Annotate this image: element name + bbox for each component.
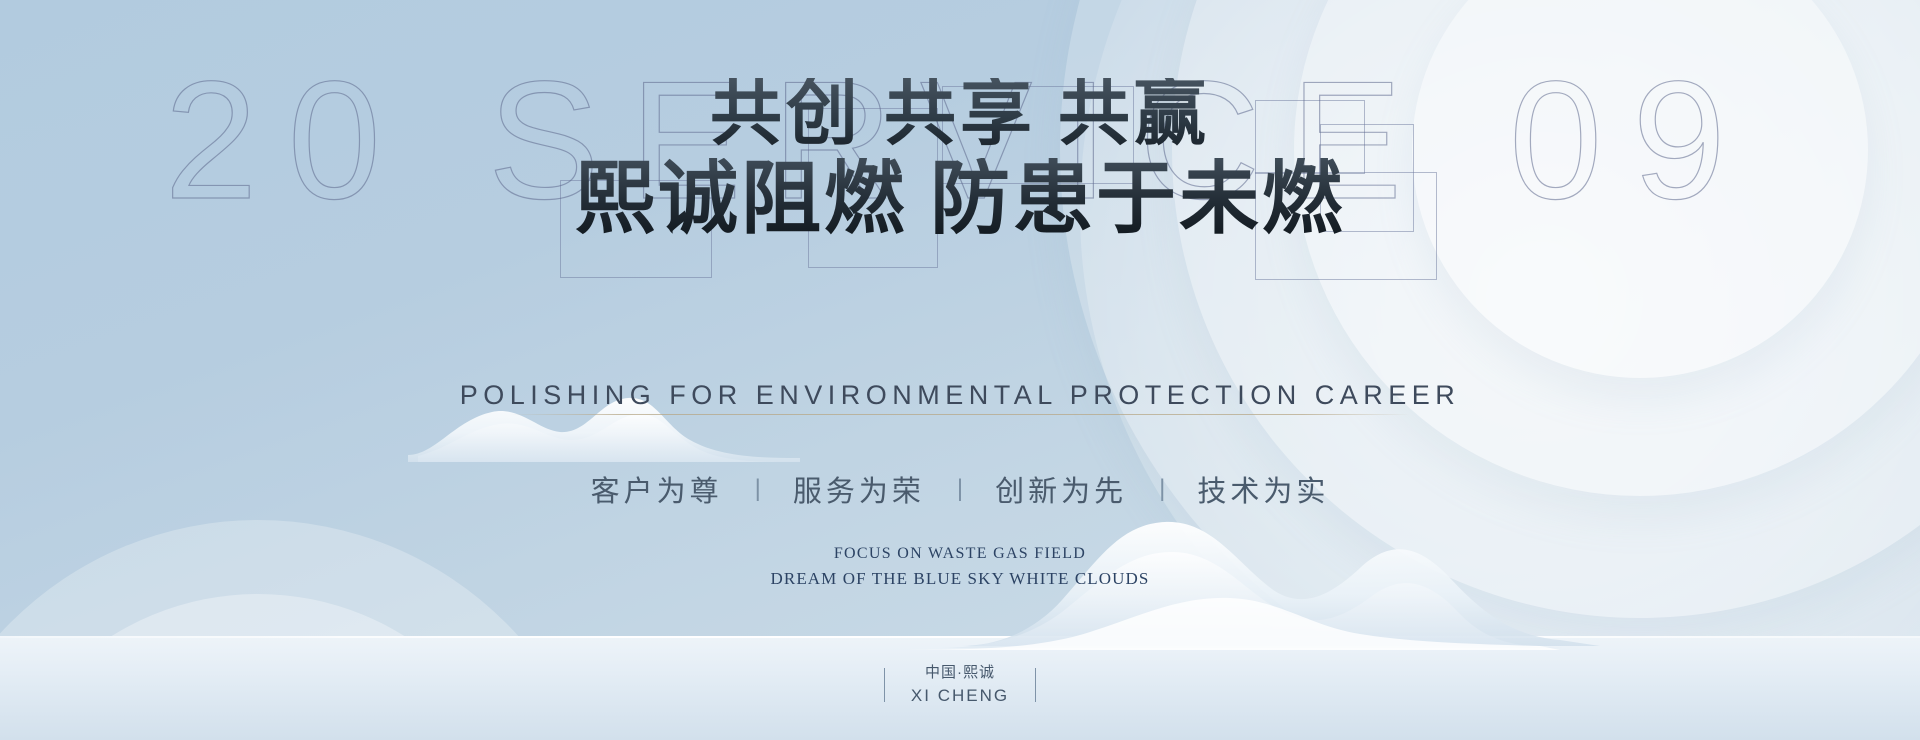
- footer-brand-names: 中国·熙诚 XI CHENG: [911, 662, 1009, 708]
- headline-line-1: 共创 共享 共赢: [0, 78, 1920, 150]
- value-item-4: 技术为实: [1165, 468, 1361, 510]
- footer-bar-right: [1035, 668, 1036, 702]
- serif-slogan-line-1: FOCUS ON WASTE GAS FIELD: [0, 542, 1920, 566]
- value-list: 客户为尊 | 服务为荣 | 创新为先 | 技术为实: [0, 468, 1920, 510]
- ground-plane-edge: [0, 636, 1920, 638]
- headline-line-2: 熙诚阻燃 防患于未燃: [0, 158, 1920, 243]
- footer-brand-mark: 中国·熙诚 XI CHENG: [0, 662, 1920, 708]
- promo-banner: 20 SERVICE 09 共创 共享 共赢 熙诚阻燃 防患于未燃 POLISH…: [0, 0, 1920, 740]
- footer-brand-cn: 中国·熙诚: [911, 662, 1009, 684]
- value-item-1: 客户为尊: [559, 468, 755, 510]
- tagline-underline: [510, 414, 1410, 415]
- headline: 共创 共享 共赢 熙诚阻燃 防患于未燃: [0, 78, 1920, 243]
- serif-slogan: FOCUS ON WASTE GAS FIELD DREAM OF THE BL…: [0, 542, 1920, 592]
- footer-brand-en: XI CHENG: [911, 684, 1009, 708]
- value-item-2: 服务为荣: [761, 468, 957, 510]
- serif-slogan-line-2: DREAM OF THE BLUE SKY WHITE CLOUDS: [0, 566, 1920, 592]
- value-item-3: 创新为先: [963, 468, 1159, 510]
- english-tagline: POLISHING FOR ENVIRONMENTAL PROTECTION C…: [0, 380, 1920, 411]
- footer-bar-left: [884, 668, 885, 702]
